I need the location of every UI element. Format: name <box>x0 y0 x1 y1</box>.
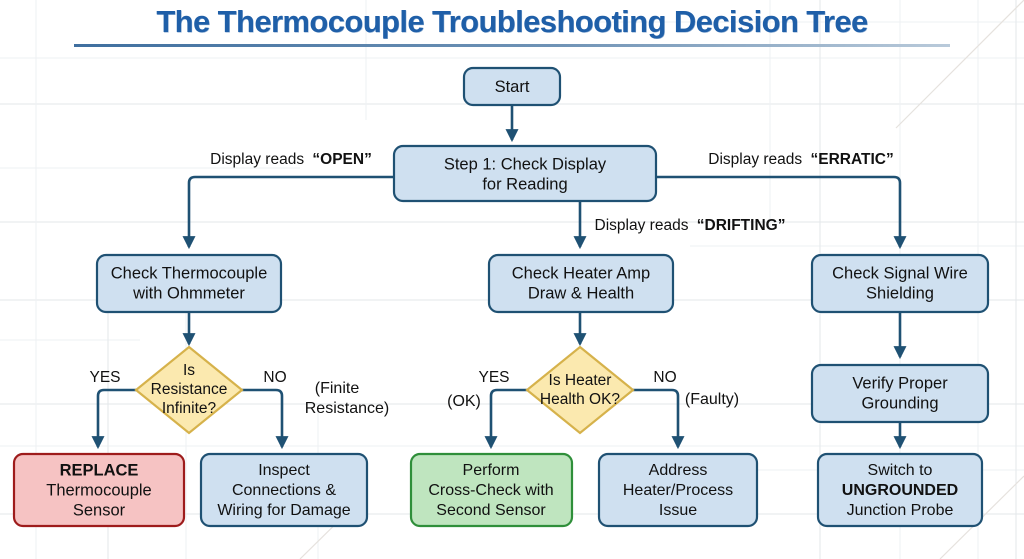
decision-resistance-line1: Is <box>183 362 195 379</box>
page-title-wrap: The Thermocouple Troubleshooting Decisio… <box>0 0 1024 40</box>
edge-note-finite-line2: Resistance) <box>305 400 389 417</box>
edge-heater-yes-to-crosscheck <box>491 390 527 447</box>
node-check-thermocouple-line2: with Ohmmeter <box>132 284 245 302</box>
node-ungrounded-line2: UNGROUNDED <box>842 482 958 499</box>
node-step1[interactable]: Step 1: Check Display for Reading <box>394 146 656 201</box>
decision-heater-line1: Is Heater <box>549 372 612 389</box>
edge-label-erratic-plain: Display reads <box>708 151 802 168</box>
node-start[interactable]: Start <box>464 68 560 105</box>
node-address-heater-process[interactable]: Address Heater/Process Issue <box>599 454 757 526</box>
node-replace-sensor-line3: Sensor <box>73 501 126 519</box>
node-inspect-line2: Connections & <box>232 482 336 499</box>
node-inspect-line3: Wiring for Damage <box>217 502 350 519</box>
node-check-thermocouple[interactable]: Check Thermocouple with Ohmmeter <box>97 255 281 312</box>
node-cross-check-line2: Cross-Check with <box>428 482 553 499</box>
node-check-signal-wire-line1: Check Signal Wire <box>832 264 968 282</box>
edge-label-erratic-bold: “ERRATIC” <box>810 151 893 168</box>
title-divider <box>74 44 950 47</box>
decision-tree-svg: Start Step 1: Check Display for Reading … <box>0 0 1024 559</box>
node-ungrounded-line3: Junction Probe <box>847 502 954 519</box>
page-title: The Thermocouple Troubleshooting Decisio… <box>0 0 1024 40</box>
decision-resistance-line2: Resistance <box>151 381 228 398</box>
node-start-label: Start <box>495 78 530 96</box>
decision-resistance-line3: Infinite? <box>162 400 217 417</box>
edge-label-no-heater: NO <box>653 369 676 386</box>
node-check-heater-amp[interactable]: Check Heater Amp Draw & Health <box>489 255 673 312</box>
node-verify-grounding[interactable]: Verify Proper Grounding <box>812 365 988 422</box>
node-cross-check-line3: Second Sensor <box>436 502 546 519</box>
node-verify-grounding-line1: Verify Proper <box>852 374 948 392</box>
node-replace-sensor-line1: REPLACE <box>60 461 139 479</box>
node-check-heater-amp-line2: Draw & Health <box>528 284 634 302</box>
edge-label-drifting-bold: “DRIFTING” <box>697 217 786 234</box>
node-address-line2: Heater/Process <box>623 482 733 499</box>
edge-label-drifting: Display reads “DRIFTING” <box>595 217 786 234</box>
node-inspect-line1: Inspect <box>258 462 310 479</box>
node-check-thermocouple-line1: Check Thermocouple <box>111 264 268 282</box>
node-check-signal-wire-line2: Shielding <box>866 284 934 302</box>
flowchart-canvas: The Thermocouple Troubleshooting Decisio… <box>0 0 1024 559</box>
edge-step1-to-erratic-check <box>656 177 900 247</box>
node-check-heater-amp-line1: Check Heater Amp <box>512 264 650 282</box>
node-cross-check[interactable]: Perform Cross-Check with Second Sensor <box>411 454 572 526</box>
edge-resistance-yes-to-replace <box>98 390 136 447</box>
decision-is-heater-health-ok-shape[interactable] <box>527 347 633 433</box>
node-switch-ungrounded-probe[interactable]: Switch to UNGROUNDED Junction Probe <box>818 454 982 526</box>
node-check-signal-wire[interactable]: Check Signal Wire Shielding <box>812 255 988 312</box>
node-cross-check-line1: Perform <box>463 462 520 479</box>
node-step1-label-line2: for Reading <box>482 175 567 193</box>
edge-heater-no-to-address <box>633 390 678 447</box>
edge-label-open-plain: Display reads <box>210 151 304 168</box>
edge-label-yes-heater: YES <box>478 369 509 386</box>
node-ungrounded-line1: Switch to <box>868 462 933 479</box>
node-inspect-connections[interactable]: Inspect Connections & Wiring for Damage <box>201 454 367 526</box>
decision-is-heater-health-ok[interactable]: Is Heater Health OK? <box>527 347 633 433</box>
node-step1-label-line1: Step 1: Check Display <box>444 155 607 173</box>
edge-label-open: Display reads “OPEN” <box>210 151 372 168</box>
decision-heater-line2: Health OK? <box>540 391 621 408</box>
node-verify-grounding-line2: Grounding <box>861 394 938 412</box>
edge-note-ok: (OK) <box>447 393 481 410</box>
edge-note-finite-line1: (Finite <box>315 380 360 397</box>
edge-label-yes-resistance: YES <box>89 369 120 386</box>
edge-label-open-bold: “OPEN” <box>312 151 371 168</box>
edge-resistance-no-to-inspect <box>242 390 282 447</box>
edge-step1-to-open-check <box>189 177 394 247</box>
node-replace-sensor-line2: Thermocouple <box>46 481 151 499</box>
decision-is-resistance-infinite[interactable]: Is Resistance Infinite? <box>136 347 242 433</box>
node-address-line1: Address <box>649 462 708 479</box>
edge-label-no-resistance: NO <box>263 369 286 386</box>
edge-label-erratic: Display reads “ERRATIC” <box>708 151 893 168</box>
edge-note-faulty: (Faulty) <box>685 391 739 408</box>
node-address-line3: Issue <box>659 502 697 519</box>
edge-label-drifting-plain: Display reads <box>595 217 689 234</box>
node-replace-sensor[interactable]: REPLACE Thermocouple Sensor <box>14 454 184 526</box>
